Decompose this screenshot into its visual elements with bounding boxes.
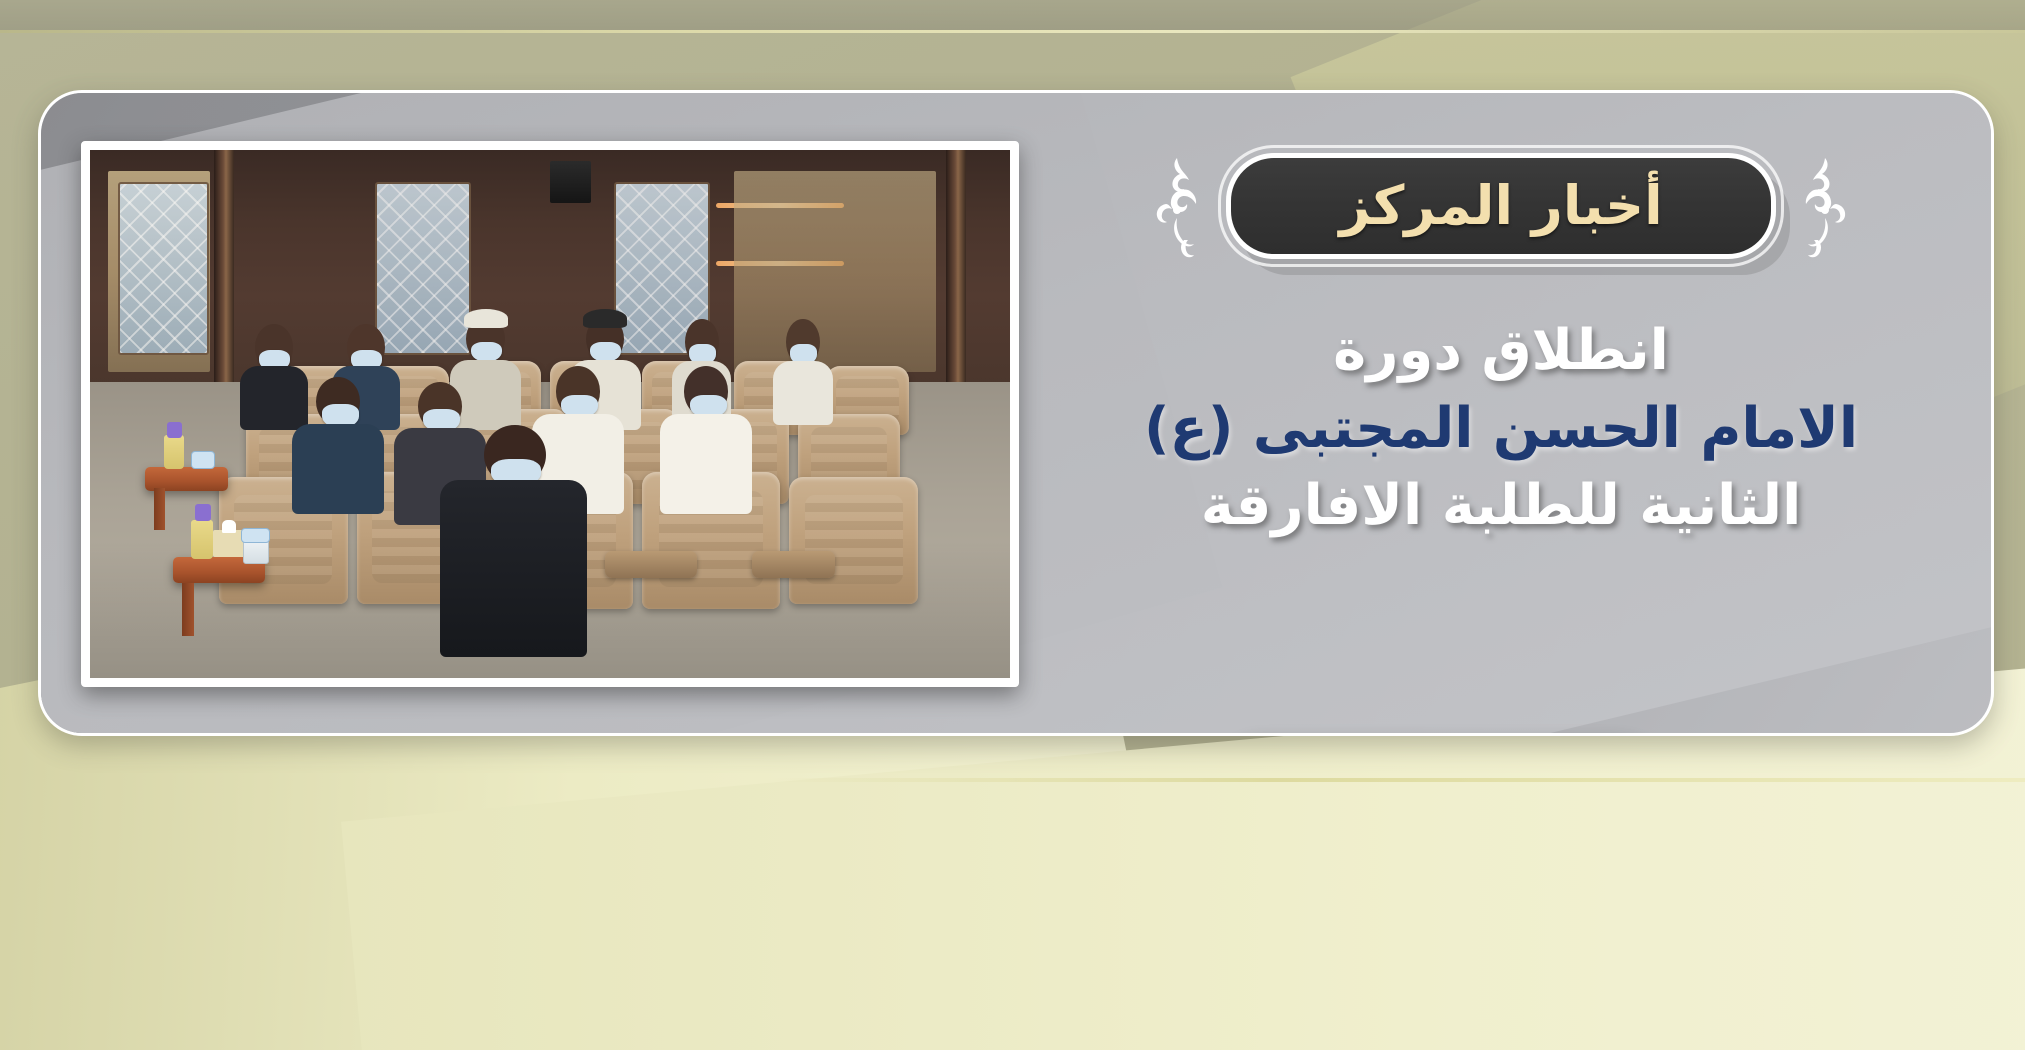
logo-plate[interactable]: مركز الدراسات الأفريقية	[1216, 735, 1666, 736]
attendee	[292, 377, 384, 514]
banner-canvas: أخبار المركز	[0, 0, 2025, 1050]
center-logo-lockup: مركز الدراسات الأفريقية	[1071, 735, 1811, 736]
content-card: أخبار المركز	[38, 90, 1994, 736]
news-photo	[81, 141, 1019, 687]
auditorium-seat	[789, 477, 918, 604]
headline-line-3: الثانية للطلبة الافارقة	[1071, 470, 1931, 542]
tissue-box	[213, 530, 244, 556]
category-badge[interactable]: أخبار المركز	[1226, 153, 1776, 259]
sanitizer-bottle	[191, 520, 213, 560]
attendee-foreground	[440, 425, 587, 657]
wall-panel	[734, 171, 936, 372]
wall-lattice-window	[118, 182, 209, 355]
arabesque-flourish-right-icon	[1146, 154, 1208, 258]
wall-pillar	[214, 150, 234, 403]
headline-line-2: الامام الحسن المجتبى (ع)	[1071, 393, 1931, 465]
table-leg	[154, 488, 165, 530]
arabesque-flourish-left-icon	[1794, 154, 1856, 258]
table-leg	[182, 583, 194, 636]
seat-armrest	[752, 551, 835, 577]
attendee	[660, 366, 752, 514]
attendee	[771, 319, 835, 425]
wall-pillar	[946, 150, 966, 403]
category-badge-label: أخبار المركز	[1339, 179, 1662, 233]
category-badge-row: أخبار المركز	[1071, 153, 1931, 259]
headline-line-1: انطلاق دورة	[1071, 315, 1931, 387]
ceiling-vent	[550, 161, 591, 203]
top-strip	[0, 0, 2025, 30]
headline: انطلاق دورة الامام الحسن المجتبى (ع) الث…	[1071, 315, 1931, 542]
bottom-gold-hairline	[770, 778, 2025, 782]
cup-lid	[191, 451, 215, 469]
sanitizer-pump	[167, 422, 182, 438]
cup-lid	[241, 528, 271, 544]
top-gold-hairline	[0, 30, 2025, 33]
banner-text-column: أخبار المركز	[1071, 153, 1931, 713]
seat-armrest	[605, 551, 697, 577]
sanitizer-bottle	[164, 435, 184, 469]
sanitizer-pump	[195, 504, 211, 521]
photo-scene	[90, 150, 1010, 678]
